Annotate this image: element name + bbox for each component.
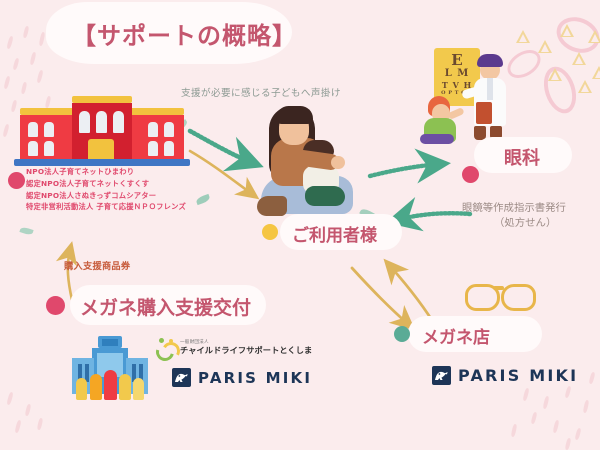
eye-clinic-bullet-dot bbox=[462, 166, 479, 183]
paris-miki-wordmark: PARIS MIKI bbox=[458, 366, 578, 385]
page-title: 【サポートの概略】 bbox=[72, 16, 297, 51]
decor-dash bbox=[12, 58, 19, 71]
cls-org-name: チャイルドライフサポートとくしま bbox=[180, 345, 312, 355]
decor-triangle bbox=[548, 68, 562, 81]
paris-miki-mark-icon bbox=[432, 366, 451, 385]
arrow-user-to-shop bbox=[352, 268, 408, 324]
decor-dash bbox=[6, 392, 13, 406]
decor-triangle bbox=[516, 30, 530, 43]
cls-mark-icon bbox=[156, 338, 176, 357]
glasses-shop-label: メガネ店 bbox=[422, 323, 490, 348]
npo-org-line: 認定NPO法人さぬきっずコムシアター bbox=[26, 190, 186, 202]
decor-dash bbox=[23, 26, 30, 39]
paris-miki-logo-voucher: PARIS MIKI bbox=[172, 368, 312, 387]
decor-dash bbox=[564, 386, 571, 399]
npo-org-line: NPO法人子育てネットひまわり bbox=[26, 166, 186, 178]
decor-triangle bbox=[560, 24, 574, 37]
infographic-canvas: 【サポートの概略】 NPO法人子育てネットひ bbox=[0, 0, 600, 450]
user-label: ご利用者様 bbox=[292, 221, 377, 246]
decor-leaf bbox=[195, 194, 211, 205]
decor-dash bbox=[3, 76, 10, 90]
school-illustration bbox=[14, 96, 190, 166]
decor-dash bbox=[542, 396, 549, 410]
npo-org-line: 認定NPO法人子育てネットくすくす bbox=[26, 178, 186, 190]
decor-dash bbox=[2, 124, 9, 138]
arrow-user-to-voucher bbox=[190, 151, 252, 194]
school-bullet-dot bbox=[8, 172, 25, 189]
npo-org-line: 特定非営利活動法人 子育て応援ＮＰＯフレンズ bbox=[26, 201, 186, 213]
user-bullet-dot bbox=[262, 224, 278, 240]
decor-triangle bbox=[538, 40, 552, 53]
decor-triangle bbox=[592, 66, 600, 79]
eye-clinic-illustration: E L M T V H O P T G B bbox=[418, 44, 530, 144]
eye-clinic-label: 眼科 bbox=[504, 144, 540, 170]
decor-dash bbox=[511, 424, 518, 438]
voucher-flow-label: 購入支援商品券 bbox=[64, 258, 130, 272]
paris-miki-logo-shop: PARIS MIKI bbox=[432, 366, 578, 385]
prescription-note-line1: 眼鏡等作成指示書発行 bbox=[462, 199, 566, 214]
voucher-illustration bbox=[66, 336, 152, 406]
decor-dash bbox=[589, 372, 596, 385]
decor-dash bbox=[25, 404, 32, 417]
prescription-note-line2: （処方せん） bbox=[494, 214, 556, 229]
decor-dash bbox=[6, 36, 13, 50]
npo-org-list: NPO法人子育てネットひまわり 認定NPO法人子育てネットくすくす 認定NPO法… bbox=[26, 166, 186, 213]
paris-miki-mark-icon bbox=[172, 368, 191, 387]
decor-triangle bbox=[588, 30, 600, 43]
child-life-support-logo: 一般財団法人 チャイルドライフサポートとくしま bbox=[156, 338, 312, 357]
decor-dash bbox=[583, 400, 590, 414]
decor-leaf bbox=[19, 226, 33, 236]
decor-dash bbox=[39, 32, 46, 47]
glasses-illustration bbox=[465, 282, 533, 308]
outreach-arrow-label: 支援が必要に感じる子どもへ声掛け bbox=[181, 85, 341, 99]
arrow-user-to-clinic bbox=[370, 164, 440, 176]
glasses-shop-bullet-dot bbox=[394, 326, 410, 342]
decor-dash bbox=[565, 438, 572, 450]
decor-dash bbox=[21, 82, 28, 95]
voucher-bullet-dot bbox=[46, 296, 65, 315]
decor-dash bbox=[36, 70, 43, 84]
decor-dash bbox=[14, 420, 21, 434]
decor-dash bbox=[37, 418, 44, 431]
decor-dash bbox=[574, 428, 581, 441]
decor-triangle bbox=[572, 52, 586, 65]
voucher-label: メガネ購入支援交付 bbox=[80, 293, 251, 320]
decor-dash bbox=[531, 412, 538, 425]
user-illustration bbox=[255, 100, 359, 222]
arrow-clinic-to-user bbox=[396, 213, 470, 220]
decor-dash bbox=[522, 388, 529, 402]
paris-miki-wordmark: PARIS MIKI bbox=[198, 369, 312, 387]
decor-dash bbox=[552, 420, 559, 434]
decor-dash bbox=[29, 52, 36, 66]
arrow-npo-to-user bbox=[190, 131, 253, 163]
decor-triangle bbox=[578, 80, 592, 93]
